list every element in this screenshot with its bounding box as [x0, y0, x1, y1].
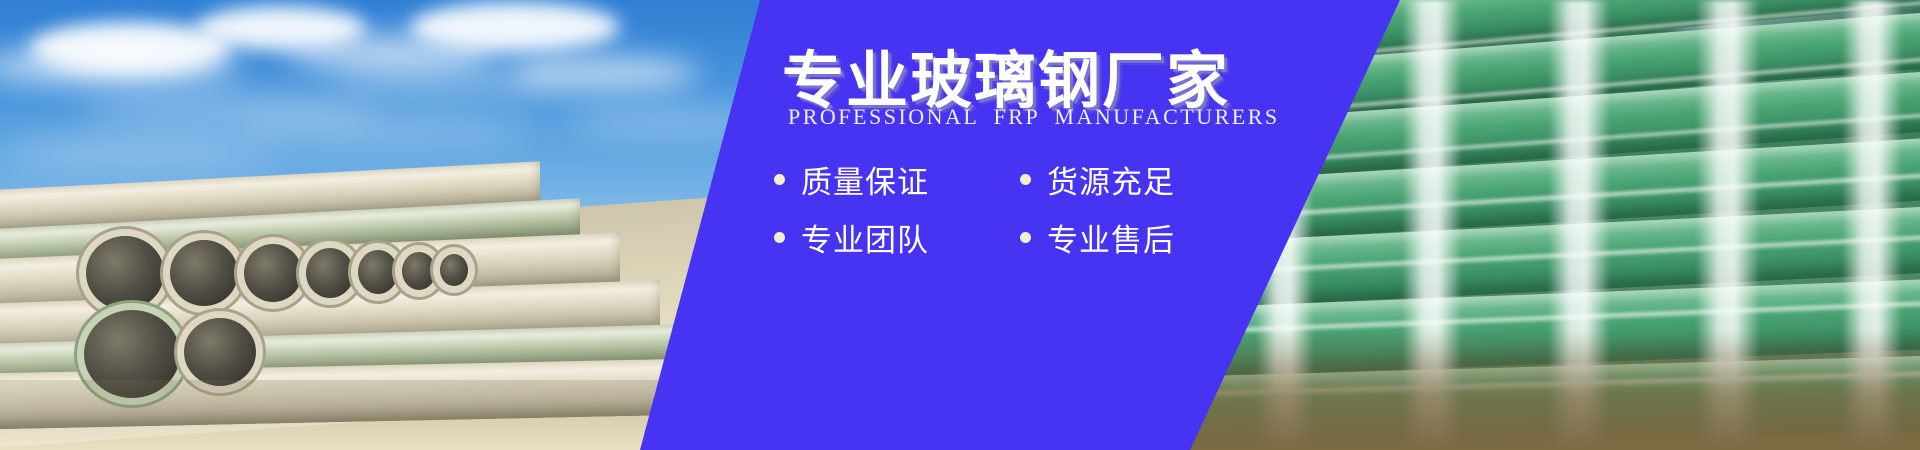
feature-label: 质量保证 — [801, 157, 929, 202]
feature-item: 专业团队 — [760, 208, 1010, 266]
feature-item: 专业售后 — [1010, 208, 1260, 266]
bullet-icon — [774, 232, 785, 243]
feature-label: 专业团队 — [801, 215, 929, 260]
feature-item: 货源充足 — [1010, 150, 1260, 208]
feature-list: 质量保证 货源充足 专业团队 专业售后 — [760, 150, 1400, 266]
bullet-icon — [774, 174, 785, 185]
feature-label: 专业售后 — [1047, 215, 1175, 260]
bullet-icon — [1020, 174, 1031, 185]
feature-label: 货源充足 — [1047, 157, 1175, 202]
page-subtitle: PROFESSIONAL FRP MANUFACTURERS — [788, 104, 1280, 130]
feature-item: 质量保证 — [760, 150, 1010, 208]
promotional-banner: 专业玻璃钢厂家 PROFESSIONAL FRP MANUFACTURERS 质… — [0, 0, 1920, 450]
bullet-icon — [1020, 232, 1031, 243]
